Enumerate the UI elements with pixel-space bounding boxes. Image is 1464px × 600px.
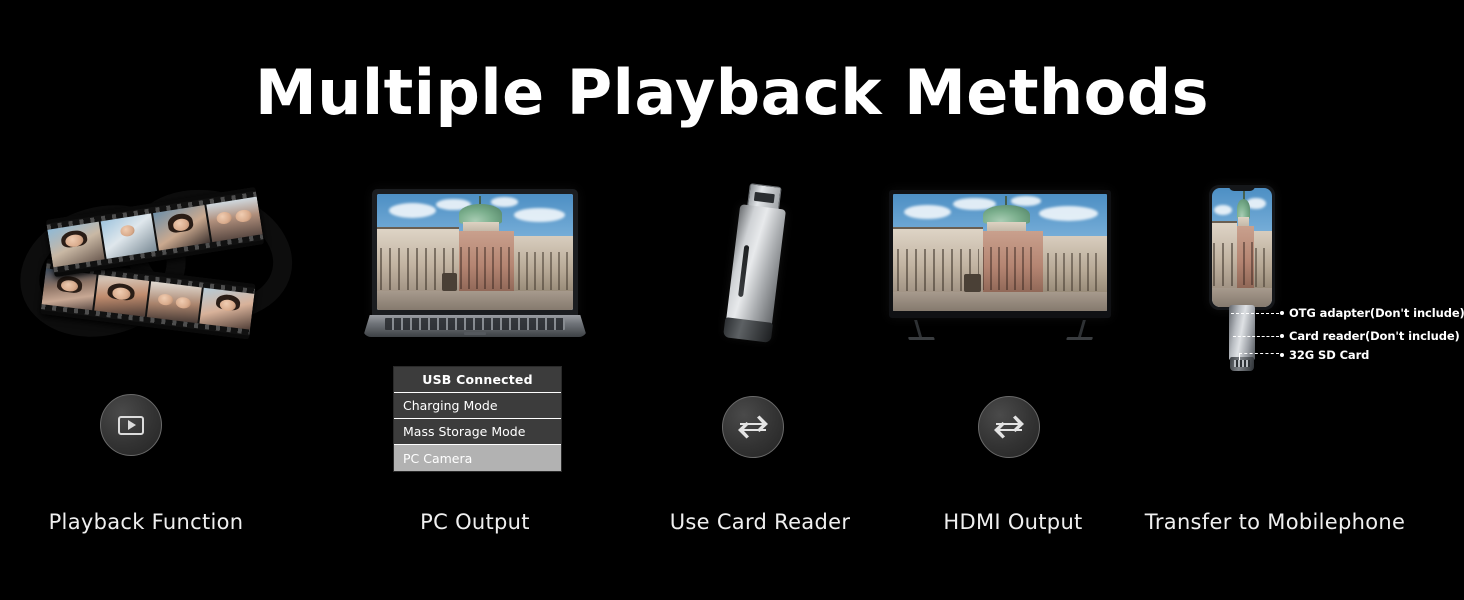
- palace-photo: [893, 194, 1107, 311]
- callout-leader-line: [1233, 336, 1279, 337]
- label-playback-function: Playback Function: [10, 510, 282, 534]
- page-root: Multiple Playback Methods: [0, 0, 1464, 600]
- callout-bullet-icon: [1280, 311, 1284, 315]
- callout-otg-adapter-text: OTG adapter(Don't include): [1289, 306, 1464, 320]
- tv-screen: [893, 194, 1107, 311]
- callout-card-reader-text: Card reader(Don't include): [1289, 329, 1460, 343]
- usb-menu-item-charging-mode[interactable]: Charging Mode: [394, 393, 561, 419]
- laptop-trackpad: [464, 332, 486, 335]
- laptop-screen: [377, 194, 573, 310]
- usb-menu-header: USB Connected: [394, 367, 561, 393]
- callout-card-reader: Card reader(Don't include): [1233, 329, 1460, 343]
- method-transfer-to-mobilephone: [1150, 175, 1460, 355]
- label-pc-output: PC Output: [345, 510, 605, 534]
- palace-photo: [1212, 188, 1272, 307]
- laptop-artwork: [345, 175, 605, 355]
- method-use-card-reader: [660, 175, 860, 355]
- callout-leader-line: [1239, 353, 1279, 360]
- callout-bullet-icon: [1280, 353, 1284, 357]
- usb-menu-item-mass-storage-mode[interactable]: Mass Storage Mode: [394, 419, 561, 445]
- label-hdmi-output: HDMI Output: [893, 510, 1133, 534]
- transfer-arrows-glyph: [737, 414, 769, 440]
- page-title: Multiple Playback Methods: [0, 58, 1464, 128]
- label-transfer-to-mobilephone: Transfer to Mobilephone: [1120, 510, 1430, 534]
- tv-bezel: [889, 190, 1111, 318]
- tv-stand-right: [1077, 320, 1086, 340]
- callout-otg-adapter: OTG adapter(Don't include): [1231, 306, 1464, 320]
- film-strip-artwork: [10, 175, 300, 355]
- phone-notch: [1229, 185, 1255, 191]
- callout-sd-card-text: 32G SD Card: [1289, 348, 1369, 362]
- method-hdmi-output: [880, 175, 1120, 355]
- callout-bullet-icon: [1280, 334, 1284, 338]
- tv-stand-left: [914, 320, 923, 340]
- method-playback-function: [10, 175, 300, 355]
- transfer-arrows-icon[interactable]: [722, 396, 784, 458]
- usb-flash-drive-artwork: [660, 175, 860, 355]
- callout-leader-line: [1231, 313, 1279, 314]
- method-pc-output: [345, 175, 605, 355]
- smartphone-body: [1209, 185, 1275, 310]
- video-play-icon[interactable]: [100, 394, 162, 456]
- callout-sd-card: 32G SD Card: [1239, 348, 1369, 362]
- laptop-keyboard: [385, 318, 565, 330]
- laptop-lid: [372, 189, 578, 319]
- television-artwork: [880, 175, 1120, 355]
- palace-photo: [377, 194, 573, 310]
- phone-screen: [1212, 188, 1272, 307]
- play-frame-icon: [118, 416, 144, 435]
- label-use-card-reader: Use Card Reader: [640, 510, 880, 534]
- usb-menu-item-pc-camera[interactable]: PC Camera: [394, 445, 561, 471]
- usb-connected-menu: USB Connected Charging Mode Mass Storage…: [393, 366, 562, 472]
- transfer-arrows-icon[interactable]: [978, 396, 1040, 458]
- transfer-arrows-glyph: [993, 414, 1025, 440]
- smartphone-artwork: [1150, 175, 1460, 355]
